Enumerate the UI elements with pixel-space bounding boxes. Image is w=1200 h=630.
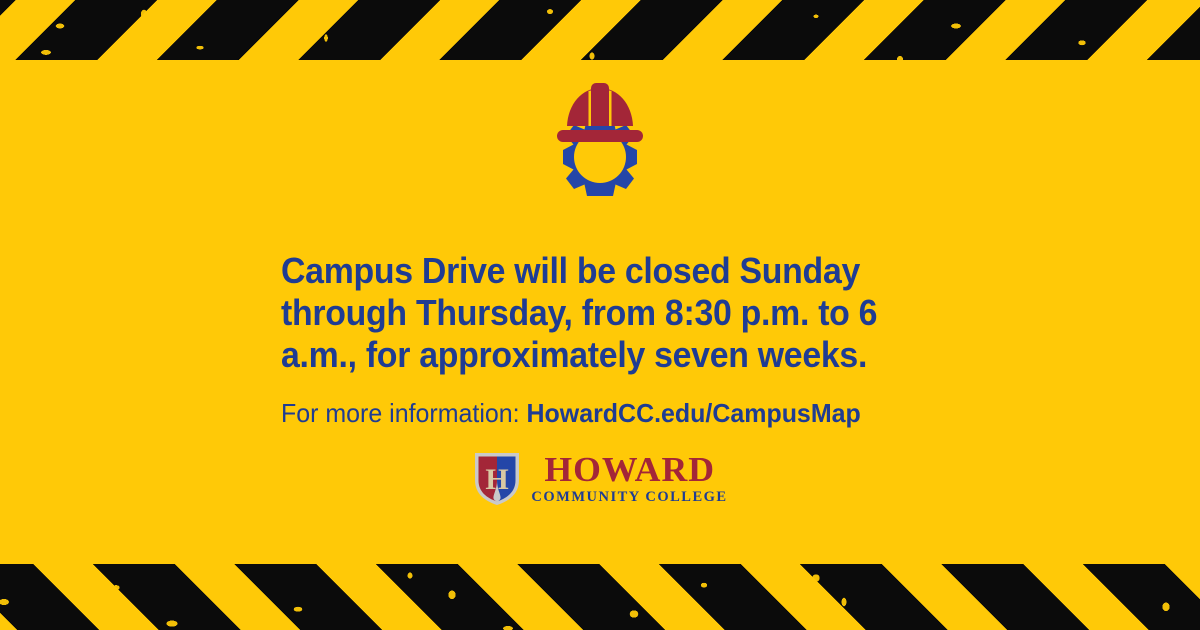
shield-icon: H xyxy=(472,450,522,507)
construction-alert-banner: Campus Drive will be closed Sunday throu… xyxy=(0,0,1200,630)
info-line: For more information: HowardCC.edu/Campu… xyxy=(281,398,953,428)
headline-text: Campus Drive will be closed Sunday throu… xyxy=(281,250,939,376)
gear-icon xyxy=(563,118,637,196)
hardhat-icon xyxy=(557,83,643,142)
icon-container xyxy=(0,82,1200,215)
info-prefix: For more information: xyxy=(281,398,527,428)
logo-inner: H HOWARD COMMUNITY COLLEGE xyxy=(472,450,727,507)
hardhat-gear-icon xyxy=(541,82,659,210)
shield-letter: H xyxy=(486,463,509,496)
caution-stripe-band-top xyxy=(0,0,1200,60)
hardhat-brim xyxy=(557,130,643,142)
logo-name-primary: HOWARD xyxy=(544,452,715,487)
campus-map-link[interactable]: HowardCC.edu/CampusMap xyxy=(527,398,861,428)
grunge-texture-top xyxy=(0,0,1200,60)
grunge-texture-bottom xyxy=(0,564,1200,630)
message-block: Campus Drive will be closed Sunday throu… xyxy=(281,250,981,428)
banner-content: Campus Drive will be closed Sunday throu… xyxy=(0,60,1200,565)
caution-stripe-band-bottom xyxy=(0,564,1200,630)
logo-wordmark: HOWARD COMMUNITY COLLEGE xyxy=(531,452,727,505)
howard-community-college-logo: H HOWARD COMMUNITY COLLEGE xyxy=(0,450,1200,512)
logo-name-secondary: COMMUNITY COLLEGE xyxy=(531,490,727,505)
